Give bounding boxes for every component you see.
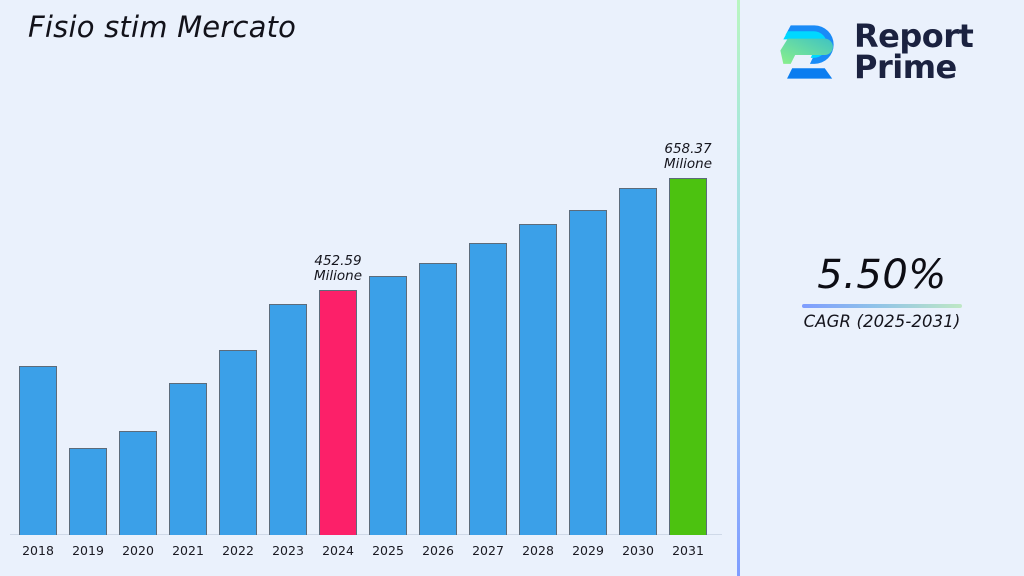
x-tick-label-2030: 2030 [619, 543, 657, 558]
x-tick-label-2020: 2020 [119, 543, 157, 558]
x-tick-label-2018: 2018 [19, 543, 57, 558]
x-tick-label-2024: 2024 [319, 543, 357, 558]
bar-2023[interactable] [269, 304, 307, 535]
bar-2025[interactable] [369, 276, 407, 535]
bar-chart-plot: 201820192020202120222023452.59Milione202… [0, 0, 738, 576]
bar-value-unit: Milione [314, 269, 362, 284]
brand-name-line2: Prime [854, 52, 973, 83]
cagr-caption: CAGR (2025-2031) [740, 312, 1024, 331]
bar-2019[interactable] [69, 448, 107, 535]
bar-2028[interactable] [519, 224, 557, 535]
bar-2022[interactable] [219, 350, 257, 535]
x-tick-label-2028: 2028 [519, 543, 557, 558]
bar-2020[interactable] [119, 431, 157, 535]
x-tick-label-2026: 2026 [419, 543, 457, 558]
cagr-block: 5.50% CAGR (2025-2031) [740, 252, 1024, 331]
x-tick-label-2031: 2031 [669, 543, 707, 558]
bar-value-number: 452.59 [314, 254, 362, 269]
bar-2018[interactable] [19, 366, 57, 535]
bar-2026[interactable] [419, 263, 457, 535]
cagr-divider-rule [802, 304, 962, 308]
bar-value-label-2024: 452.59Milione [314, 254, 362, 284]
x-tick-label-2021: 2021 [169, 543, 207, 558]
bar-2029[interactable] [569, 210, 607, 535]
bar-2021[interactable] [169, 383, 207, 535]
bar-2027[interactable] [469, 243, 507, 535]
x-axis-line [10, 534, 722, 535]
bar-2031[interactable] [669, 178, 707, 535]
bar-value-number: 658.37 [664, 142, 712, 157]
bar-2030[interactable] [619, 188, 657, 535]
cagr-value: 5.50% [740, 252, 1024, 298]
brand-wordmark: Report Prime [854, 21, 973, 83]
x-tick-label-2025: 2025 [369, 543, 407, 558]
infographic-slide: Fisio stim Mercato 201820192020202120222… [0, 0, 1024, 576]
x-tick-label-2019: 2019 [69, 543, 107, 558]
bar-2024[interactable] [319, 290, 357, 535]
brand-panel: Report Prime 5.50% CAGR (2025-2031) [740, 0, 1024, 576]
bar-value-label-2031: 658.37Milione [664, 142, 712, 172]
report-prime-logo-icon [770, 15, 844, 89]
x-tick-label-2027: 2027 [469, 543, 507, 558]
x-tick-label-2029: 2029 [569, 543, 607, 558]
bar-value-unit: Milione [664, 157, 712, 172]
x-tick-label-2023: 2023 [269, 543, 307, 558]
brand-logo: Report Prime [770, 12, 1006, 92]
x-tick-label-2022: 2022 [219, 543, 257, 558]
chart-panel: Fisio stim Mercato 201820192020202120222… [0, 0, 738, 576]
